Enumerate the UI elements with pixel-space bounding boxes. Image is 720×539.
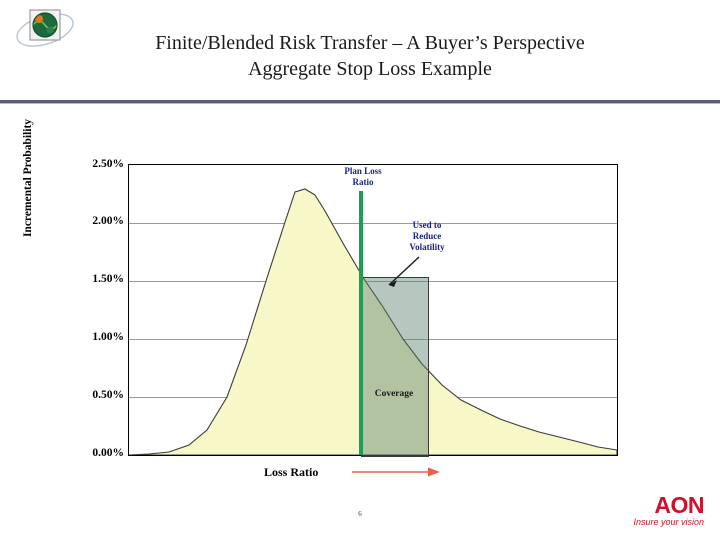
title-line-2: Aggregate Stop Loss Example <box>90 56 650 82</box>
y-tick-2-50: 2.50% <box>66 158 124 170</box>
aon-tagline: Insure your vision <box>633 517 704 527</box>
volatility-line-1: Used to <box>387 220 467 231</box>
plan-loss-ratio-line <box>359 191 363 455</box>
header-divider-light <box>0 103 720 104</box>
x-axis-label: Loss Ratio <box>264 465 318 480</box>
y-tick-1-00: 1.00% <box>66 331 124 343</box>
x-axis-arrow-icon <box>352 466 440 478</box>
y-tick-1-50: 1.50% <box>66 273 124 285</box>
y-tick-0-00: 0.00% <box>66 447 124 459</box>
page-title: Finite/Blended Risk Transfer – A Buyer’s… <box>90 30 650 82</box>
y-tick-0-50: 0.50% <box>66 389 124 401</box>
chart-container: Incremental Probability 2.50% 2.00% 1.50… <box>0 120 720 490</box>
plot-area: Coverage Used to Reduce Volatility <box>128 164 618 456</box>
aon-wordmark: AON <box>633 492 704 519</box>
aon-globe-logo <box>14 6 76 54</box>
volatility-arrow-icon <box>379 253 425 293</box>
coverage-label: Coverage <box>361 389 427 399</box>
y-axis-ticks: 2.50% 2.00% 1.50% 1.00% 0.50% 0.00% <box>60 120 124 460</box>
used-to-reduce-volatility-label: Used to Reduce Volatility <box>387 220 467 253</box>
y-tick-2-00: 2.00% <box>66 215 124 227</box>
volatility-line-2: Reduce <box>387 231 467 242</box>
page-number: 6 <box>0 510 720 518</box>
plan-loss-ratio-label: Plan Loss Ratio <box>318 166 408 188</box>
aon-brand-logo: AON Insure your vision <box>633 492 704 527</box>
plan-label-line-1: Plan Loss <box>318 166 408 177</box>
slide: Finite/Blended Risk Transfer – A Buyer’s… <box>0 0 720 539</box>
coverage-box <box>361 277 429 457</box>
volatility-line-3: Volatility <box>387 242 467 253</box>
aon-globe-logo-svg <box>14 6 76 54</box>
title-line-1: Finite/Blended Risk Transfer – A Buyer’s… <box>90 30 650 56</box>
plan-label-line-2: Ratio <box>318 177 408 188</box>
y-axis-label: Incremental Probability <box>22 88 34 268</box>
